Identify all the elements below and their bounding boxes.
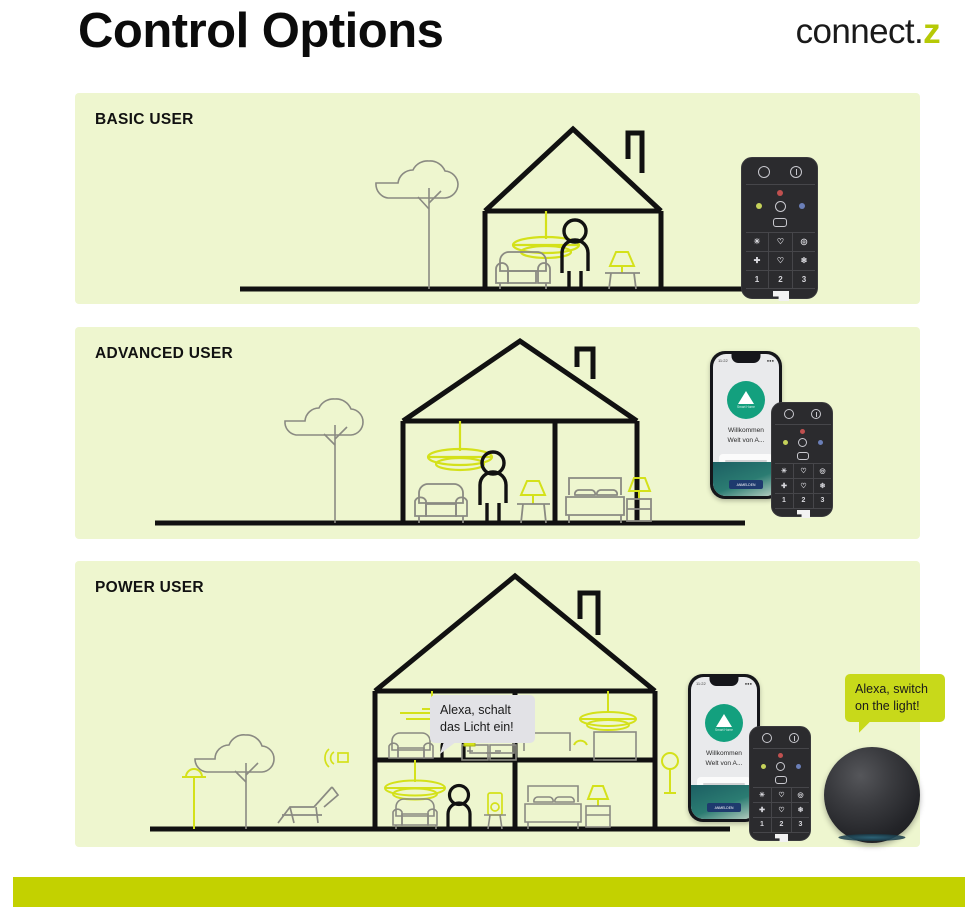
app-logo-sub: Smart Home — [715, 728, 733, 732]
app-welcome-line2: Welt von A... — [699, 759, 749, 769]
panel-advanced-user[interactable]: ADVANCED USER — [75, 327, 920, 539]
person-figure — [448, 786, 470, 830]
remote-cycle-icon[interactable] — [798, 438, 807, 447]
phone-screen[interactable]: 11:22 ●●● Smart Home Willkommen Welt von… — [691, 677, 757, 819]
remote-key-snowflake-icon[interactable]: ❄ — [793, 251, 815, 270]
remote-key-plus-icon[interactable]: ✚ — [746, 251, 768, 270]
remote-key-1[interactable]: 1 — [746, 270, 768, 288]
armchair-icon — [389, 733, 433, 758]
speaker-light-ring — [838, 834, 905, 841]
remote-key-1[interactable]: 1 — [775, 493, 793, 508]
smart-speaker-small-icon — [488, 793, 502, 815]
wifi-sensor-icon — [325, 749, 348, 767]
remote-key-target-icon[interactable]: ◎ — [792, 787, 809, 802]
illustration-advanced-house — [225, 343, 745, 533]
remote-dot-red[interactable] — [777, 190, 783, 196]
remote-key-brightness-icon[interactable]: ☀ — [753, 787, 771, 802]
pendant-lamp-icon — [580, 691, 636, 730]
poster-root: Control Options connect. z BASIC USER — [0, 0, 978, 907]
remote-circle-icon[interactable] — [784, 409, 794, 419]
remote-key-brightness-icon[interactable]: ☀ — [746, 232, 768, 251]
app-welcome-line1: Willkommen — [699, 749, 749, 759]
logo-wordmark: connect. — [796, 12, 924, 52]
wardrobe-icon — [594, 732, 636, 760]
page-title: Control Options — [78, 2, 443, 61]
app-logo: Smart Home — [727, 381, 765, 419]
status-icons: ●●● — [745, 681, 752, 686]
remote-dot-red[interactable] — [800, 429, 805, 434]
nightstand-lamp-icon — [588, 786, 608, 806]
table-lamp-icon — [521, 481, 545, 504]
remote-power-icon[interactable] — [789, 733, 799, 743]
phone-status-bar: 11:22 ●●● — [696, 679, 752, 687]
remote-power-icon[interactable] — [811, 409, 821, 419]
status-icons: ●●● — [767, 358, 774, 363]
bubble-english-line1: Alexa, switch — [855, 681, 935, 698]
bed-icon — [566, 478, 624, 523]
bed-icon — [525, 786, 581, 829]
bubble-tail — [859, 720, 872, 733]
header: Control Options connect. z — [0, 0, 978, 88]
outdoor-lamp-icon — [662, 753, 678, 793]
app-welcome-text: Willkommen Welt von A... — [699, 749, 749, 768]
app-welcome-line2: Welt von A... — [721, 436, 771, 446]
armchair-icon — [393, 799, 437, 829]
remote-flag-icon — [775, 834, 788, 842]
remote-dot-red[interactable] — [778, 753, 783, 758]
bubble-german-line1: Alexa, schalt — [440, 702, 525, 719]
illustration-basic-house — [310, 111, 760, 296]
remote-control-basic[interactable]: ☀ ♡ ◎ ✚ ♡ ❄ 1 2 3 — [741, 157, 818, 299]
pendant-lamp-icon — [513, 211, 579, 258]
remote-key-2[interactable]: 2 — [772, 817, 791, 832]
remote-cycle-icon[interactable] — [775, 201, 786, 212]
tree-icon — [285, 399, 363, 523]
status-time: 11:22 — [696, 681, 706, 686]
phone-status-bar: 11:22 ●●● — [718, 356, 774, 364]
app-logo: Smart Home — [705, 704, 743, 742]
remote-key-plus-icon[interactable]: ✚ — [753, 802, 771, 817]
side-table-icon — [517, 504, 550, 523]
remote-key-heart-outline-icon[interactable]: ♡ — [772, 802, 791, 817]
remote-scene-icon[interactable] — [773, 218, 787, 227]
remote-key-target-icon[interactable]: ◎ — [793, 232, 815, 251]
remote-control-power[interactable]: ☀ ♡ ◎ ✚ ♡ ❄ 1 2 3 — [749, 726, 811, 841]
panel-label-advanced: ADVANCED USER — [95, 345, 233, 363]
remote-key-2[interactable]: 2 — [794, 493, 813, 508]
panel-label-basic: BASIC USER — [95, 111, 194, 129]
speech-bubble-english: Alexa, switch on the light! — [845, 674, 945, 722]
remote-scene-icon[interactable] — [797, 452, 809, 460]
remote-circle-icon[interactable] — [762, 733, 772, 743]
bottom-accent-bar — [13, 877, 965, 907]
app-hero-photo — [691, 785, 757, 819]
app-hero-photo — [713, 462, 779, 496]
remote-dot-blue[interactable] — [799, 203, 805, 209]
remote-dot-blue[interactable] — [796, 764, 801, 769]
remote-dot-blue[interactable] — [818, 440, 823, 445]
armchair-icon — [415, 484, 467, 523]
lounge-chair-icon — [278, 787, 338, 823]
lamp-post-icon — [182, 769, 206, 829]
remote-key-heart-outline-icon[interactable]: ♡ — [794, 478, 813, 493]
remote-key-snowflake-icon[interactable]: ❄ — [814, 478, 831, 493]
speech-bubble-german: Alexa, schalt das Licht ein! — [430, 695, 535, 743]
panel-power-user[interactable]: POWER USER — [75, 561, 920, 847]
remote-key-3[interactable]: 3 — [792, 817, 809, 832]
remote-key-target-icon[interactable]: ◎ — [814, 463, 831, 478]
app-welcome-text: Willkommen Welt von A... — [721, 426, 771, 445]
person-figure — [562, 220, 588, 289]
phone-screen[interactable]: 11:22 ●●● Smart Home Willkommen Welt von… — [713, 354, 779, 496]
remote-key-brightness-icon[interactable]: ☀ — [775, 463, 793, 478]
remote-key-heart-icon[interactable]: ♡ — [769, 232, 792, 251]
remote-flag-icon — [797, 510, 810, 518]
smart-speaker-echo[interactable] — [824, 747, 920, 843]
remote-circle-icon[interactable] — [758, 166, 770, 178]
remote-key-2[interactable]: 2 — [769, 270, 792, 288]
tree-icon — [376, 161, 458, 289]
remote-key-3[interactable]: 3 — [814, 493, 831, 508]
remote-dot-yellow[interactable] — [756, 203, 762, 209]
bed-lamp-icon — [574, 741, 587, 745]
remote-key-1[interactable]: 1 — [753, 817, 771, 832]
bubble-english-line2: on the light! — [855, 698, 935, 715]
remote-dot-yellow[interactable] — [783, 440, 788, 445]
bubble-german-line2: das Licht ein! — [440, 719, 525, 736]
remote-key-plus-icon[interactable]: ✚ — [775, 478, 793, 493]
app-welcome-line1: Willkommen — [721, 426, 771, 436]
nightstand-icon — [586, 806, 610, 827]
brand-logo: connect. z — [796, 12, 940, 52]
logo-accent-letter: z — [923, 12, 940, 52]
app-logo-mark — [738, 391, 754, 404]
remote-scene-icon[interactable] — [775, 776, 787, 784]
remote-key-snowflake-icon[interactable]: ❄ — [792, 802, 809, 817]
app-login-button[interactable]: ANMELDEN — [729, 480, 763, 489]
remote-power-icon[interactable] — [790, 166, 802, 178]
remote-cycle-icon[interactable] — [776, 762, 785, 771]
app-login-button[interactable]: ANMELDEN — [707, 803, 741, 812]
remote-key-heart-icon[interactable]: ♡ — [794, 463, 813, 478]
remote-flag-icon — [773, 291, 789, 301]
status-time: 11:22 — [718, 358, 728, 363]
remote-control-advanced[interactable]: ☀ ♡ ◎ ✚ ♡ ❄ 1 2 3 — [771, 402, 833, 517]
remote-dot-yellow[interactable] — [761, 764, 766, 769]
pendant-lamp-icon — [385, 760, 445, 800]
table-lamp-icon — [610, 252, 634, 273]
app-logo-sub: Smart Home — [737, 405, 755, 409]
remote-key-heart-outline-icon[interactable]: ♡ — [769, 251, 792, 270]
remote-key-3[interactable]: 3 — [793, 270, 815, 288]
remote-key-heart-icon[interactable]: ♡ — [772, 787, 791, 802]
tree-icon — [195, 735, 274, 829]
app-logo-mark — [716, 714, 732, 727]
panel-basic-user[interactable]: BASIC USER — [75, 93, 920, 304]
